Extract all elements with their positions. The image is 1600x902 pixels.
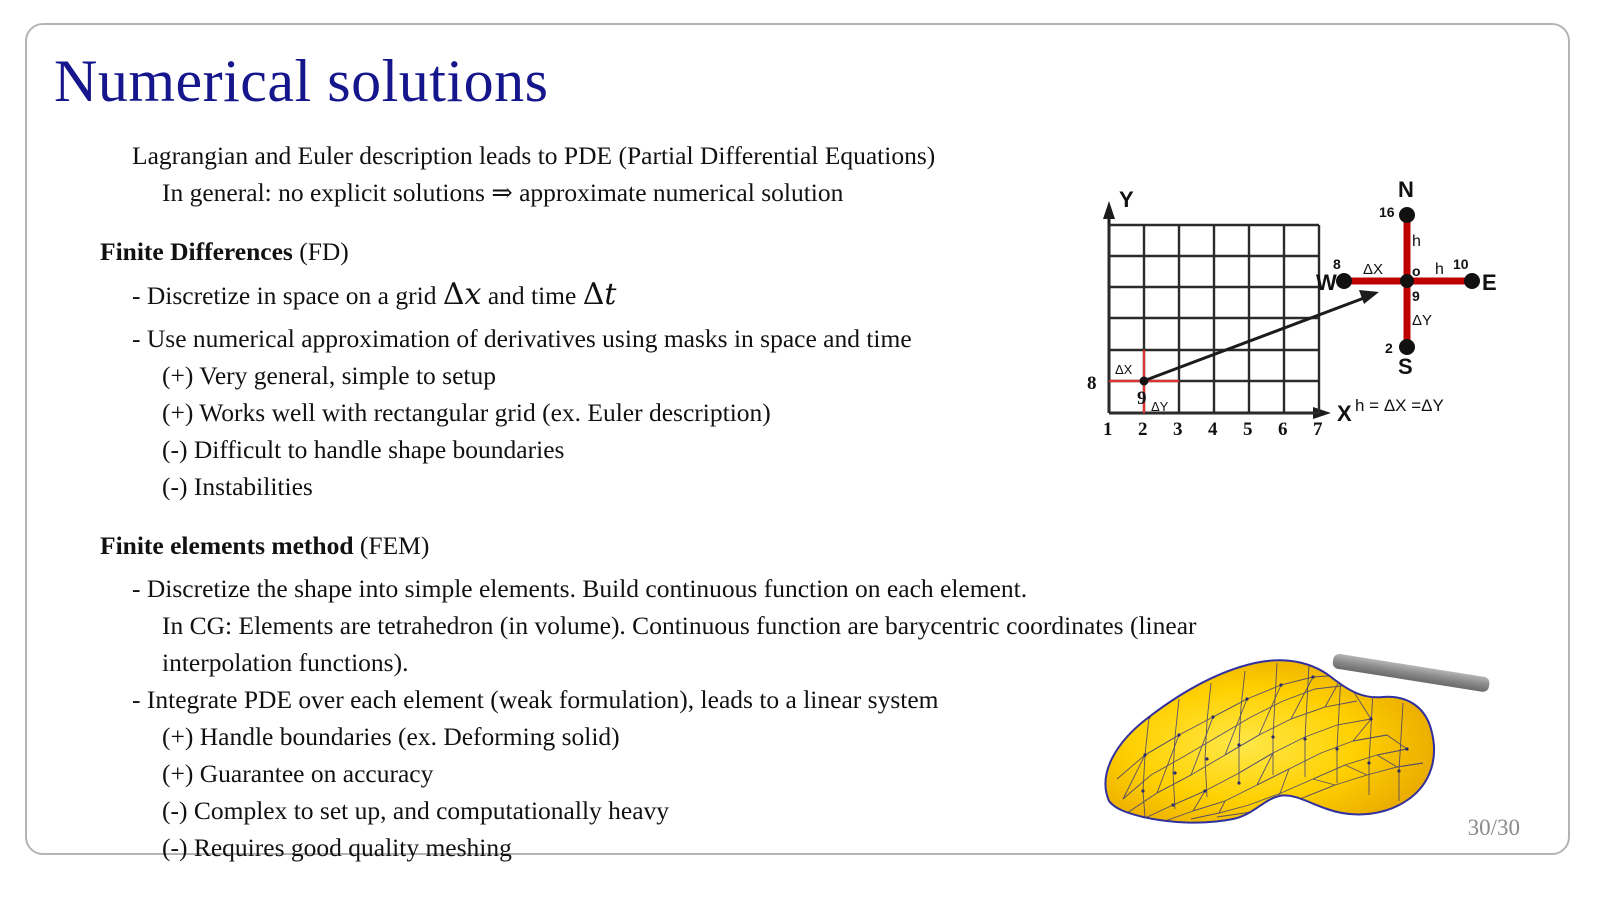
- stencil-node-south: [1399, 339, 1415, 355]
- fem-sub-4: (-) Requires good quality meshing: [162, 829, 1100, 866]
- fd-heading-rest: (FD): [299, 237, 349, 266]
- grid-x-tick-7: 7: [1313, 419, 1323, 440]
- slide-frame: Numerical solutions Lagrangian and Euler…: [25, 23, 1570, 855]
- grid-y-axis-label: Y: [1119, 187, 1134, 212]
- fem-bullet-2: - Integrate PDE over each element (weak …: [132, 681, 1100, 718]
- fem-heading-rest: (FEM): [360, 531, 429, 560]
- fd-sub-3: (-) Difficult to handle shape boundaries: [162, 431, 1100, 468]
- variable-t: t: [604, 277, 616, 312]
- stencil-value-east: 10: [1453, 256, 1469, 272]
- slide-body: Lagrangian and Euler description leads t…: [100, 137, 1100, 866]
- stencil-label-center: o: [1412, 263, 1421, 279]
- fem-sub-2: (+) Guarantee on accuracy: [162, 755, 1100, 792]
- fd-sub-1: (+) Very general, simple to setup: [162, 357, 1100, 394]
- grid-x-tick-2: 2: [1138, 419, 1148, 440]
- grid-node-label-9: 9: [1137, 388, 1147, 409]
- stencil-node-east: [1464, 273, 1480, 289]
- stencil-h-right-label: h: [1435, 261, 1444, 278]
- stencil-node-north: [1399, 207, 1415, 223]
- double-right-arrow-icon: ⇒: [491, 178, 512, 207]
- fem-heading-bold: Finite elements method: [100, 531, 354, 560]
- stencil-arms: [1345, 278, 1407, 353]
- grid-x-tick-6: 6: [1278, 419, 1288, 440]
- intro-line-2-a: In general: no explicit solutions: [162, 178, 485, 207]
- intro-line-2: In general: no explicit solutions ⇒ appr…: [162, 174, 1100, 211]
- grid-delta-y-label: ΔY: [1151, 399, 1169, 414]
- stencil-delta-y-label: ΔY: [1412, 312, 1432, 329]
- stencil-label-south: S: [1398, 354, 1413, 379]
- stencil-value-west: 8: [1333, 256, 1341, 272]
- stencil-delta-x-label: ΔX: [1363, 261, 1383, 278]
- grid-delta-x-label: ΔX: [1115, 362, 1133, 377]
- grid-x-tick-3: 3: [1173, 419, 1183, 440]
- mesh-surface: [1105, 660, 1434, 822]
- connector-arrowhead: [1359, 290, 1379, 304]
- fd-sub-4: (-) Instabilities: [162, 468, 1100, 505]
- fd-bullet-1-a: - Discretize in space on a grid: [132, 281, 436, 310]
- fd-heading-bold: Finite Differences: [100, 237, 293, 266]
- fem-sub-1: (+) Handle boundaries (ex. Deforming sol…: [162, 718, 1100, 755]
- grid-x-tick-1: 1: [1103, 419, 1113, 440]
- fem-sub-3: (-) Complex to set up, and computational…: [162, 792, 1100, 829]
- fd-sub-2: (+) Works well with rectangular grid (ex…: [162, 394, 1100, 431]
- delta-symbol-x: Δ: [443, 277, 465, 312]
- fem-heading: Finite elements method (FEM): [100, 527, 1100, 564]
- stencil-label-east: E: [1482, 270, 1497, 295]
- intro-line-2-b: approximate numerical solution: [519, 178, 843, 207]
- stencil-node-west: [1336, 273, 1352, 289]
- stencil-caption: h = ΔX =ΔY: [1355, 396, 1444, 415]
- stencil-label-west: W: [1316, 270, 1337, 295]
- fem-mesh-illustration: [1087, 633, 1487, 833]
- y-axis-arrowhead: [1103, 201, 1115, 219]
- fd-heading: Finite Differences (FD): [100, 233, 1100, 270]
- fd-bullet-2: - Use numerical approximation of derivat…: [132, 320, 1100, 357]
- grid-x-tick-4: 4: [1208, 419, 1218, 440]
- mesh-support-rod: [1332, 653, 1490, 693]
- delta-symbol-t: Δ: [583, 277, 605, 312]
- stencil-value-center: 9: [1412, 288, 1420, 304]
- fem-bullet-1-cont-1: In CG: Elements are tetrahedron (in volu…: [162, 607, 1100, 644]
- page-title: Numerical solutions: [54, 47, 548, 116]
- fd-bullet-1: - Discretize in space on a grid Δx and t…: [132, 276, 1100, 314]
- fem-bullet-1-cont-2: interpolation functions).: [162, 644, 1100, 681]
- stencil-h-top-label: h: [1412, 233, 1421, 250]
- intro-line-1: Lagrangian and Euler description leads t…: [132, 137, 1100, 174]
- stencil-value-north: 16: [1379, 204, 1395, 220]
- grid-y-tick-8: 8: [1087, 373, 1097, 394]
- stencil-value-south: 2: [1385, 340, 1393, 356]
- grid-lines: [1109, 225, 1319, 413]
- page-number: 30/30: [1468, 815, 1520, 841]
- finite-difference-diagram: Y X 8 9 ΔX ΔY 1 2 3 4 5 6 7: [1067, 173, 1497, 423]
- stencil-label-north: N: [1398, 177, 1414, 202]
- grid-x-tick-5: 5: [1243, 419, 1253, 440]
- fd-bullet-1-mid: and time: [488, 281, 577, 310]
- grid-x-axis-label: X: [1337, 401, 1352, 426]
- variable-x: x: [465, 277, 482, 312]
- fem-bullet-1: - Discretize the shape into simple eleme…: [132, 570, 1100, 607]
